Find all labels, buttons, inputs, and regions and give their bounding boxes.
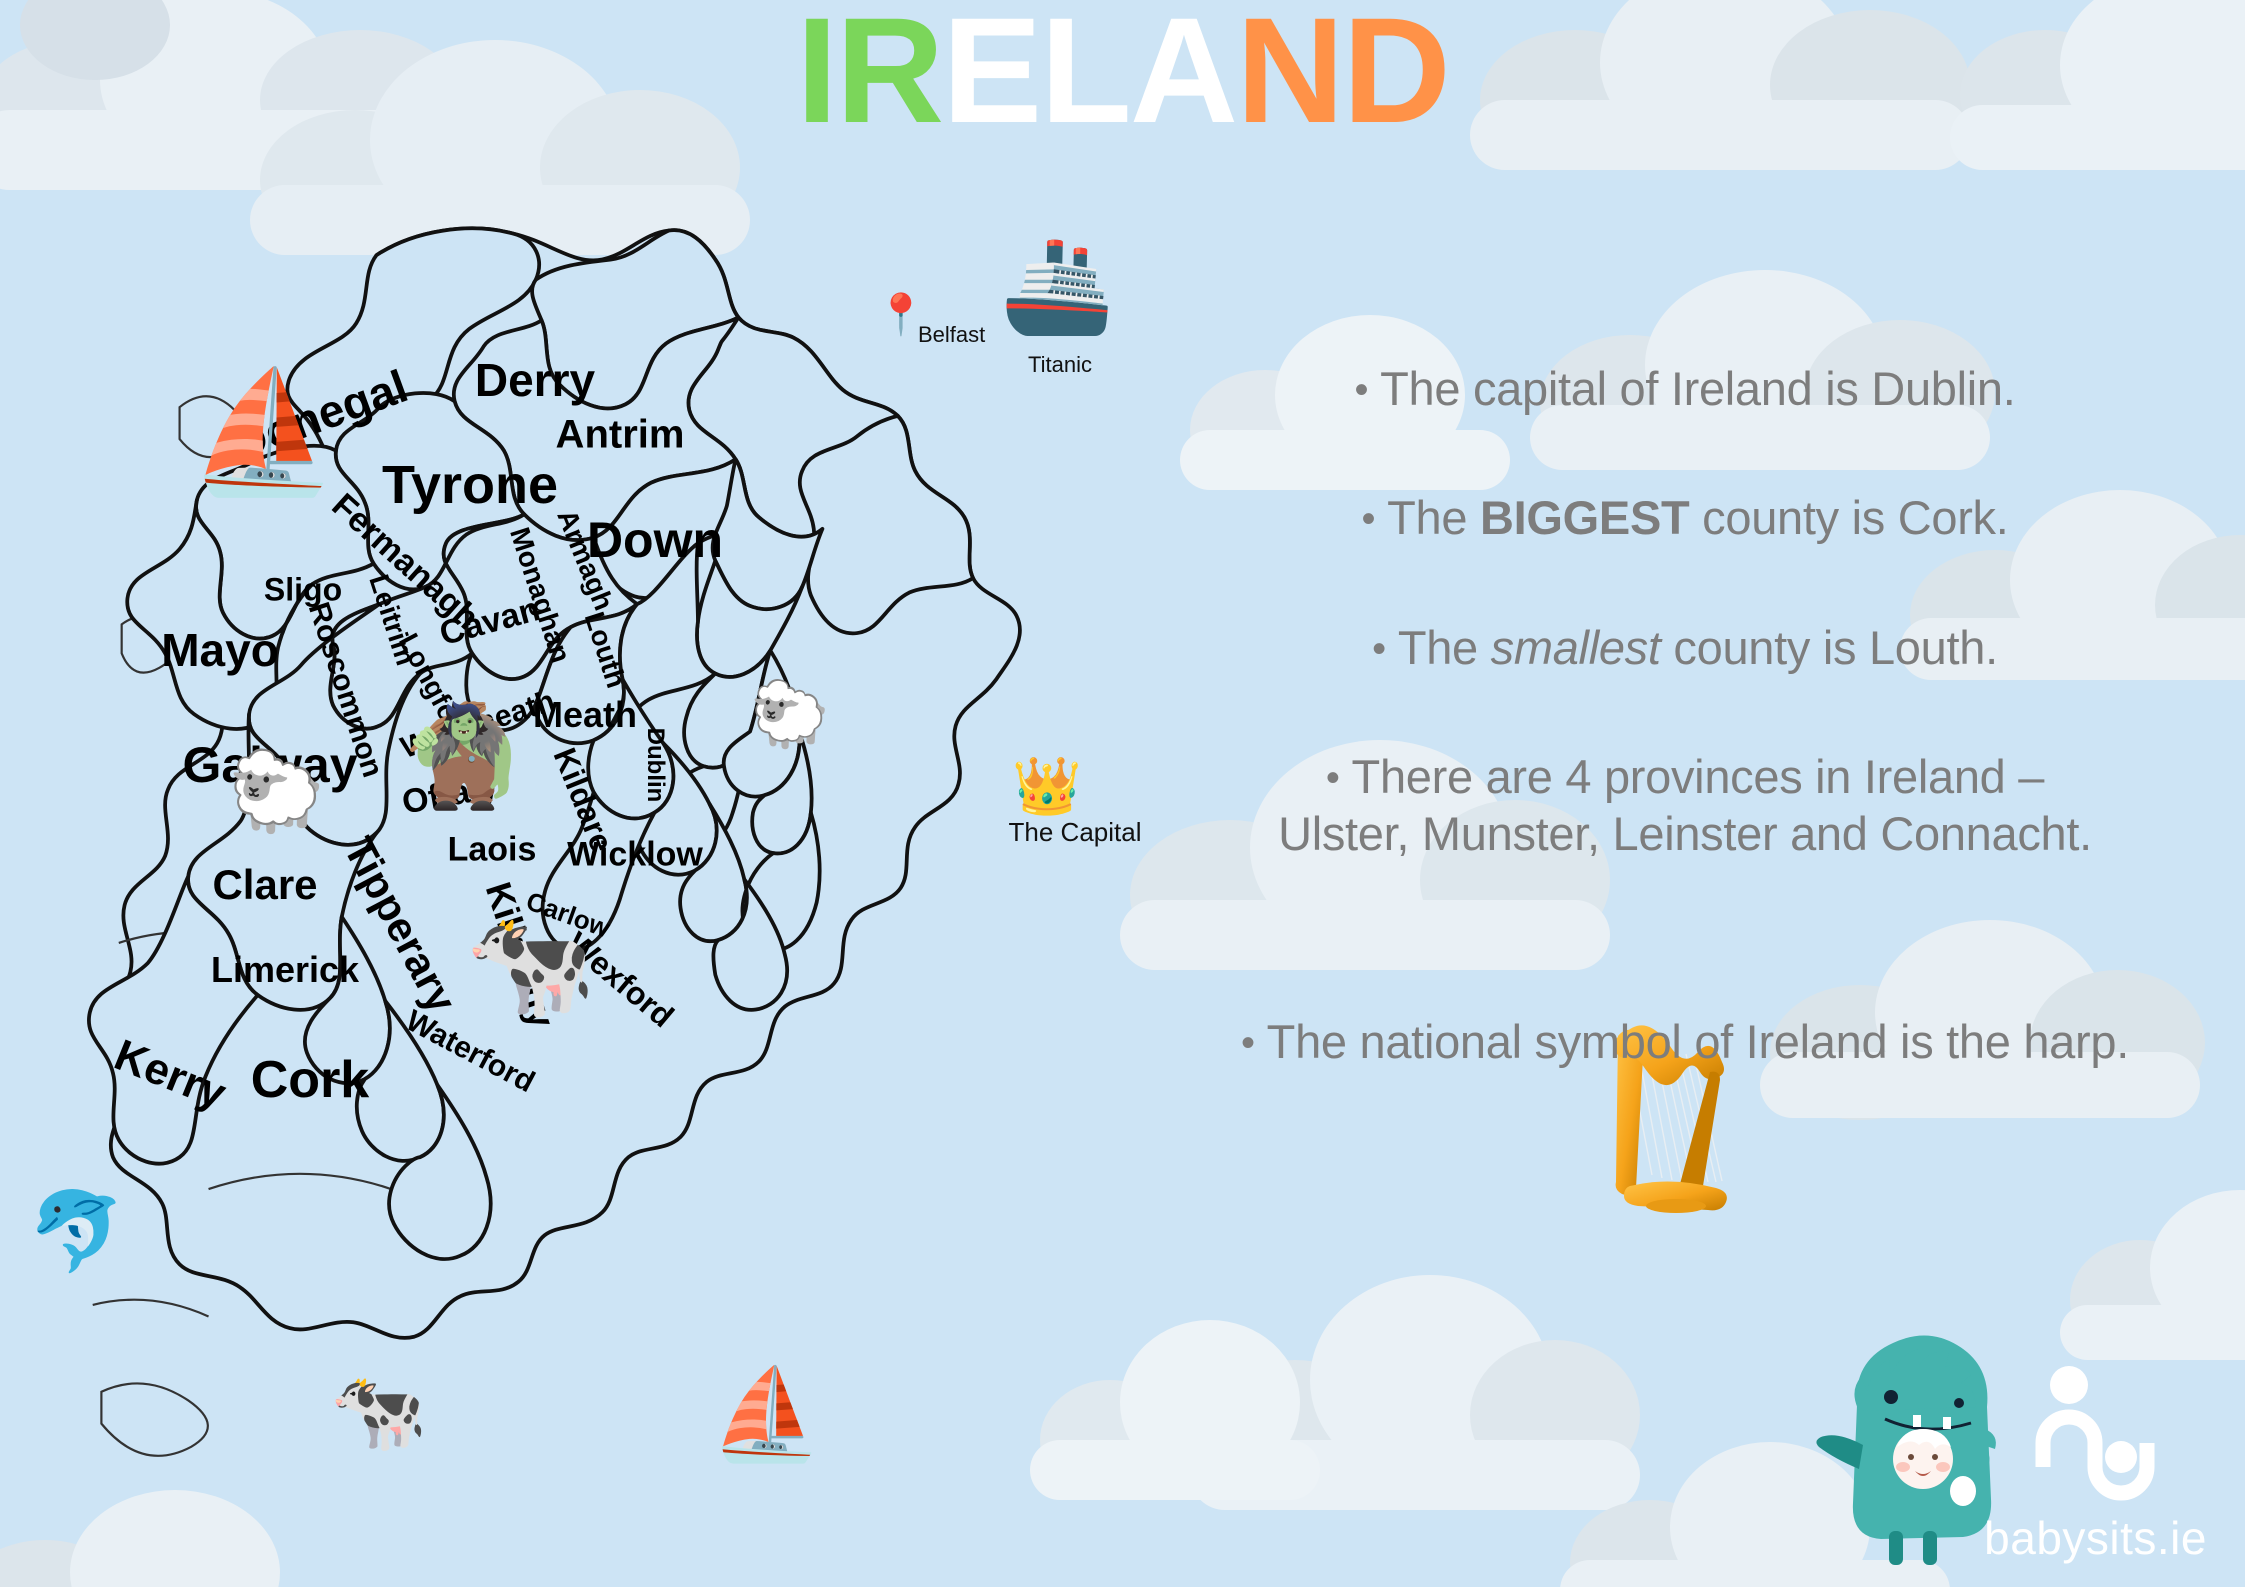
ireland-map: DonegalDerryAntrimTyroneDownFermanaghArm… (20, 190, 1150, 1580)
fact-text-prefix: The capital of Ireland is Dublin. (1380, 362, 2015, 415)
title-part-green: IR (796, 0, 942, 154)
bullet-icon: • (1354, 368, 1368, 412)
brand-name: babysits.ie (1984, 1511, 2207, 1565)
fact-text-prefix: The (1387, 491, 1480, 544)
harp-foot (1646, 1199, 1706, 1213)
map-outline-group (89, 228, 1020, 1455)
titanic-label: Titanic (1028, 352, 1092, 378)
fact-text-emphasis: BIGGEST (1480, 491, 1689, 544)
fact-text-emphasis: smallest (1491, 621, 1661, 674)
page-title: IRELAND (0, 0, 2245, 150)
fact-text-suffix: Ulster, Munster, Leinster and Connacht. (1278, 807, 2092, 860)
facts-list: • The capital of Ireland is Dublin.• The… (1140, 360, 2230, 1142)
fact-text-suffix: county is Cork. (1689, 491, 2008, 544)
fact-capital: • The capital of Ireland is Dublin. (1140, 360, 2230, 417)
bullet-icon: • (1372, 627, 1386, 671)
coast-detail-nw (180, 396, 246, 457)
bullet-icon: • (1361, 497, 1375, 541)
ireland-map-svg (20, 190, 1150, 1580)
infographic-canvas: IRELAND (0, 0, 2245, 1587)
fact-text-prefix: The (1398, 621, 1491, 674)
coast-detail-sw (101, 1383, 207, 1455)
fact-text-prefix: The national symbol of Ireland is the ha… (1267, 1015, 2129, 1068)
cloud-bottom-center (1190, 1250, 1650, 1510)
fact-text-suffix: county is Louth. (1661, 621, 1998, 674)
wave-bottom-dot (2105, 1441, 2137, 1473)
fact-smallest: • The smallest county is Louth. (1140, 619, 2230, 676)
bullet-icon: • (1326, 756, 1340, 800)
coast-detail-dingle (93, 1300, 209, 1317)
fact-harp: • The national symbol of Ireland is the … (1140, 1013, 2230, 1070)
mascot-monster-icon (1816, 1335, 1995, 1565)
bullet-icon: • (1241, 1021, 1255, 1065)
the-capital-label: The Capital (1000, 818, 1150, 848)
belfast-pin-label: Belfast (918, 322, 985, 348)
title-part-white: ELA (942, 0, 1236, 154)
fact-biggest: • The BIGGEST county is Cork. (1140, 489, 2230, 546)
wave-top-dot (2050, 1366, 2088, 1404)
fact-provinces: • There are 4 provinces in Ireland –Ulst… (1140, 748, 2230, 863)
title-part-orange: ND (1236, 0, 1449, 154)
fact-text-prefix: There are 4 provinces in Ireland – (1352, 750, 2045, 803)
